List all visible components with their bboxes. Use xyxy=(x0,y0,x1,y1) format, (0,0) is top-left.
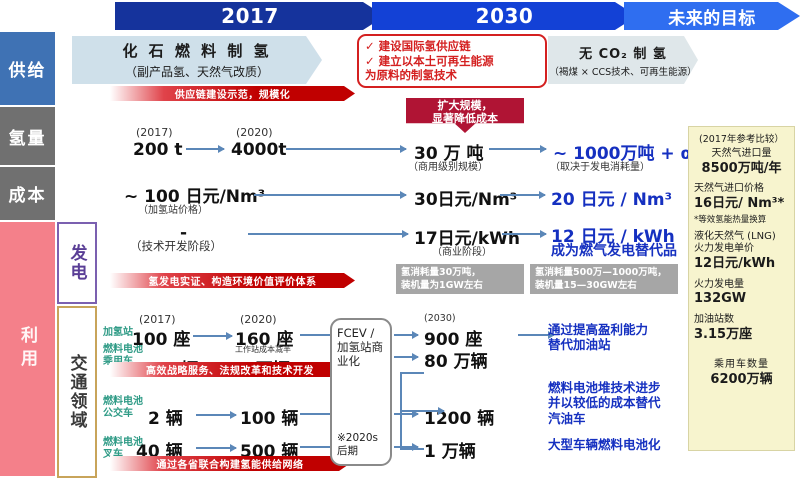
rail-cost-label: 成本 xyxy=(9,181,47,206)
reference-heading: (2017年参考比较） xyxy=(694,131,789,145)
milestone-2030-label: 2030 xyxy=(476,4,534,28)
forklift-arrow-2017-2020 xyxy=(196,447,236,449)
reference-label-2: 液化天然气 (LNG) 火力发电单价 xyxy=(694,231,789,256)
sub-rail-transport[interactable]: 交通领域 xyxy=(57,306,97,478)
h2-arrow-2020-2030 xyxy=(286,148,406,150)
h2-2017-tag: (2017) xyxy=(136,126,173,139)
fossil-hydrogen-box: 化 石 燃 料 制 氢 （副产品氢、天然气改质） xyxy=(72,36,322,84)
scale-up-line-2: 显著降低成本 xyxy=(432,113,498,126)
station-arrow-to-2030 xyxy=(394,334,418,336)
fossil-hydrogen-subtitle: （副产品氢、天然气改质） xyxy=(125,63,269,80)
h2-2020-tag: (2020) xyxy=(236,126,273,139)
h2-2020-value: 4000t xyxy=(231,140,286,160)
reference-label-5: 乘用车数量 xyxy=(694,359,789,372)
station-connector-line xyxy=(300,334,330,336)
power-arrow-now-2030 xyxy=(248,233,408,235)
bus-2030-value: 1200 辆 xyxy=(424,404,494,429)
goal-text-car: 燃料电池堆技术进步 并以较低的成本替代 汽油车 xyxy=(548,380,661,426)
reference-value-1: 16日元/ Nm³* xyxy=(694,196,789,213)
goal-connector-bottom-stub xyxy=(400,448,424,450)
rail-item-hydrogen-volume[interactable]: 氢量 xyxy=(0,107,55,167)
rail-item-supply[interactable]: 供给 xyxy=(0,32,55,107)
milestone-future[interactable]: 未来的目标 xyxy=(624,2,800,30)
transport-policy-banner-label: 高效战略服务、法规改革和技术开发 xyxy=(146,362,314,377)
cost-future-value: 20 日元 / Nm³ xyxy=(551,185,672,210)
roadmap-infographic: 2017 2030 未来的目标 供给 氢量 成本 利用 发电 交通领域 化 石 … xyxy=(0,0,800,480)
power-demo-banner-label: 氢发电实证、构造环境价值评价体系 xyxy=(149,273,317,288)
goal-callout-box: ✓ 建设国际氢供应链 ✓ 建立以本土可再生能源 为原料的制氢技术 xyxy=(357,34,547,88)
station-2020-note: 工作站成本减半 xyxy=(235,344,291,355)
h2-2017-value: 200 t xyxy=(133,140,183,160)
goal-callout-line-2: ✓ 建立以本土可再生能源 xyxy=(365,54,539,68)
h2-2030-note: （商用级别规模） xyxy=(408,158,488,173)
reference-value-2: 12日元/kWh xyxy=(694,256,789,273)
co2-free-subtitle: （褐煤 × CCS技术、可再生能源） xyxy=(549,64,696,78)
rail-utilization-label: 利用 xyxy=(15,326,40,372)
power-demo-banner: 氢发电实证、构造环境价值评价体系 xyxy=(110,273,355,288)
forklift-connector-line xyxy=(300,446,330,448)
goal-callout-line-1: ✓ 建设国际氢供应链 xyxy=(365,39,539,53)
cost-2030-value: 30日元/Nm³ xyxy=(414,185,517,210)
station-2017-value: 100 座 xyxy=(132,325,190,350)
goal-text-heavy: 大型车辆燃料电池化 xyxy=(548,437,661,452)
sub-rail-transport-label: 交通领域 xyxy=(65,354,90,430)
reference-label-3: 火力发电量 xyxy=(694,279,789,292)
milestone-2030[interactable]: 2030 xyxy=(372,2,637,30)
car-2030-value: 80 万辆 xyxy=(424,347,488,372)
reference-label-0: 天然气进口量 xyxy=(694,148,789,161)
reference-label-1: 天然气进口价格 xyxy=(694,183,789,196)
cost-arrow-now-2030 xyxy=(254,194,406,196)
cost-now-note: （加氢站价格） xyxy=(138,201,208,216)
rail-hydrogen-label: 氢量 xyxy=(9,124,47,149)
bus-arrow-2017-2020 xyxy=(196,414,236,416)
power-arrow-2030-future xyxy=(502,233,546,235)
supply-chain-banner-label: 供应链建设示范，规模化 xyxy=(175,86,291,101)
fossil-hydrogen-title: 化 石 燃 料 制 氢 xyxy=(122,40,271,61)
sub-rail-power-generation[interactable]: 发电 xyxy=(57,222,97,304)
reference-note-1: *等效氢能热量换算 xyxy=(694,213,789,225)
fcev-box-top-text: FCEV / 加氢站商 业化 xyxy=(337,326,385,368)
power-now-note: （技术开发阶段） xyxy=(130,238,222,254)
station-arrow-2017-2020 xyxy=(193,335,232,337)
fcev-box-bottom-text: ※2020s 后期 xyxy=(337,432,385,458)
car-arrow-to-2030 xyxy=(394,356,418,358)
goal-connector-top-stub xyxy=(400,372,424,374)
sub-rail-power-label: 发电 xyxy=(65,244,90,282)
milestone-2017[interactable]: 2017 xyxy=(115,2,385,30)
transport-policy-banner: 高效战略服务、法规改革和技术开发 xyxy=(110,362,350,377)
label-fc-bus: 燃料电池 公交车 xyxy=(103,396,143,419)
bus-arrow-to-2030 xyxy=(394,413,418,415)
h2-arrow-2017-2020 xyxy=(186,148,224,150)
timeline-header: 2017 2030 未来的目标 xyxy=(0,0,800,30)
rail-item-cost[interactable]: 成本 xyxy=(0,167,55,222)
reference-value-5: 6200万辆 xyxy=(694,372,789,389)
goal-arrow-car xyxy=(402,410,444,412)
h2-future-note: （取决于发电消耗量） xyxy=(550,158,650,173)
rail-item-utilization[interactable]: 利用 xyxy=(0,222,55,478)
reference-value-0: 8500万吨/年 xyxy=(694,161,789,178)
supply-chain-banner: 供应链建设示范，规模化 xyxy=(110,86,355,101)
transport-network-banner: 通过各省联合构建氢能供给网络 xyxy=(110,456,350,471)
reference-value-4: 3.15万座 xyxy=(694,327,789,344)
label-hydrogen-station: 加氢站 xyxy=(103,327,133,339)
reference-label-4: 加油站数 xyxy=(694,314,789,327)
rail-supply-label: 供给 xyxy=(9,56,47,81)
bus-2017-value: 2 辆 xyxy=(148,404,183,429)
bus-connector-line xyxy=(300,413,330,415)
goal-callout-line-3: 为原料的制氢技术 xyxy=(365,68,539,82)
co2-free-hydrogen-box: 无 CO₂ 制 氢 （褐煤 × CCS技术、可再生能源） xyxy=(548,36,698,84)
h2-arrow-2030-future xyxy=(489,148,546,150)
power-2030-note: （商业阶段） xyxy=(432,243,492,258)
co2-free-title: 无 CO₂ 制 氢 xyxy=(579,43,667,62)
reference-comparison-panel: (2017年参考比较） 天然气进口量 8500万吨/年 天然气进口价格 16日元… xyxy=(688,126,795,451)
goal-text-station: 通过提高盈利能力 替代加油站 xyxy=(548,322,648,353)
bus-2020-value: 100 辆 xyxy=(240,404,298,429)
milestone-2017-label: 2017 xyxy=(221,4,279,28)
transport-2030-tag: (2030) xyxy=(424,313,456,324)
forklift-2030-value: 1 万辆 xyxy=(424,437,476,462)
power-gray-box-2030: 氢消耗量30万吨， 装机量为1GW左右 xyxy=(396,264,524,294)
power-gray-box-future: 氢消耗量500万—1000万吨， 装机量15—30GW左右 xyxy=(530,264,678,294)
milestone-future-label: 未来的目标 xyxy=(668,4,756,29)
cost-arrow-2030-future xyxy=(500,194,545,196)
scale-up-banner: 扩大规模， 显著降低成本 xyxy=(406,98,524,133)
transport-network-banner-label: 通过各省联合构建氢能供给网络 xyxy=(157,456,304,471)
power-future-note: 成为燃气发电替代品 xyxy=(551,240,677,260)
reference-value-3: 132GW xyxy=(694,291,789,308)
fcev-commercialization-box: FCEV / 加氢站商 业化 ※2020s 后期 xyxy=(330,318,392,466)
